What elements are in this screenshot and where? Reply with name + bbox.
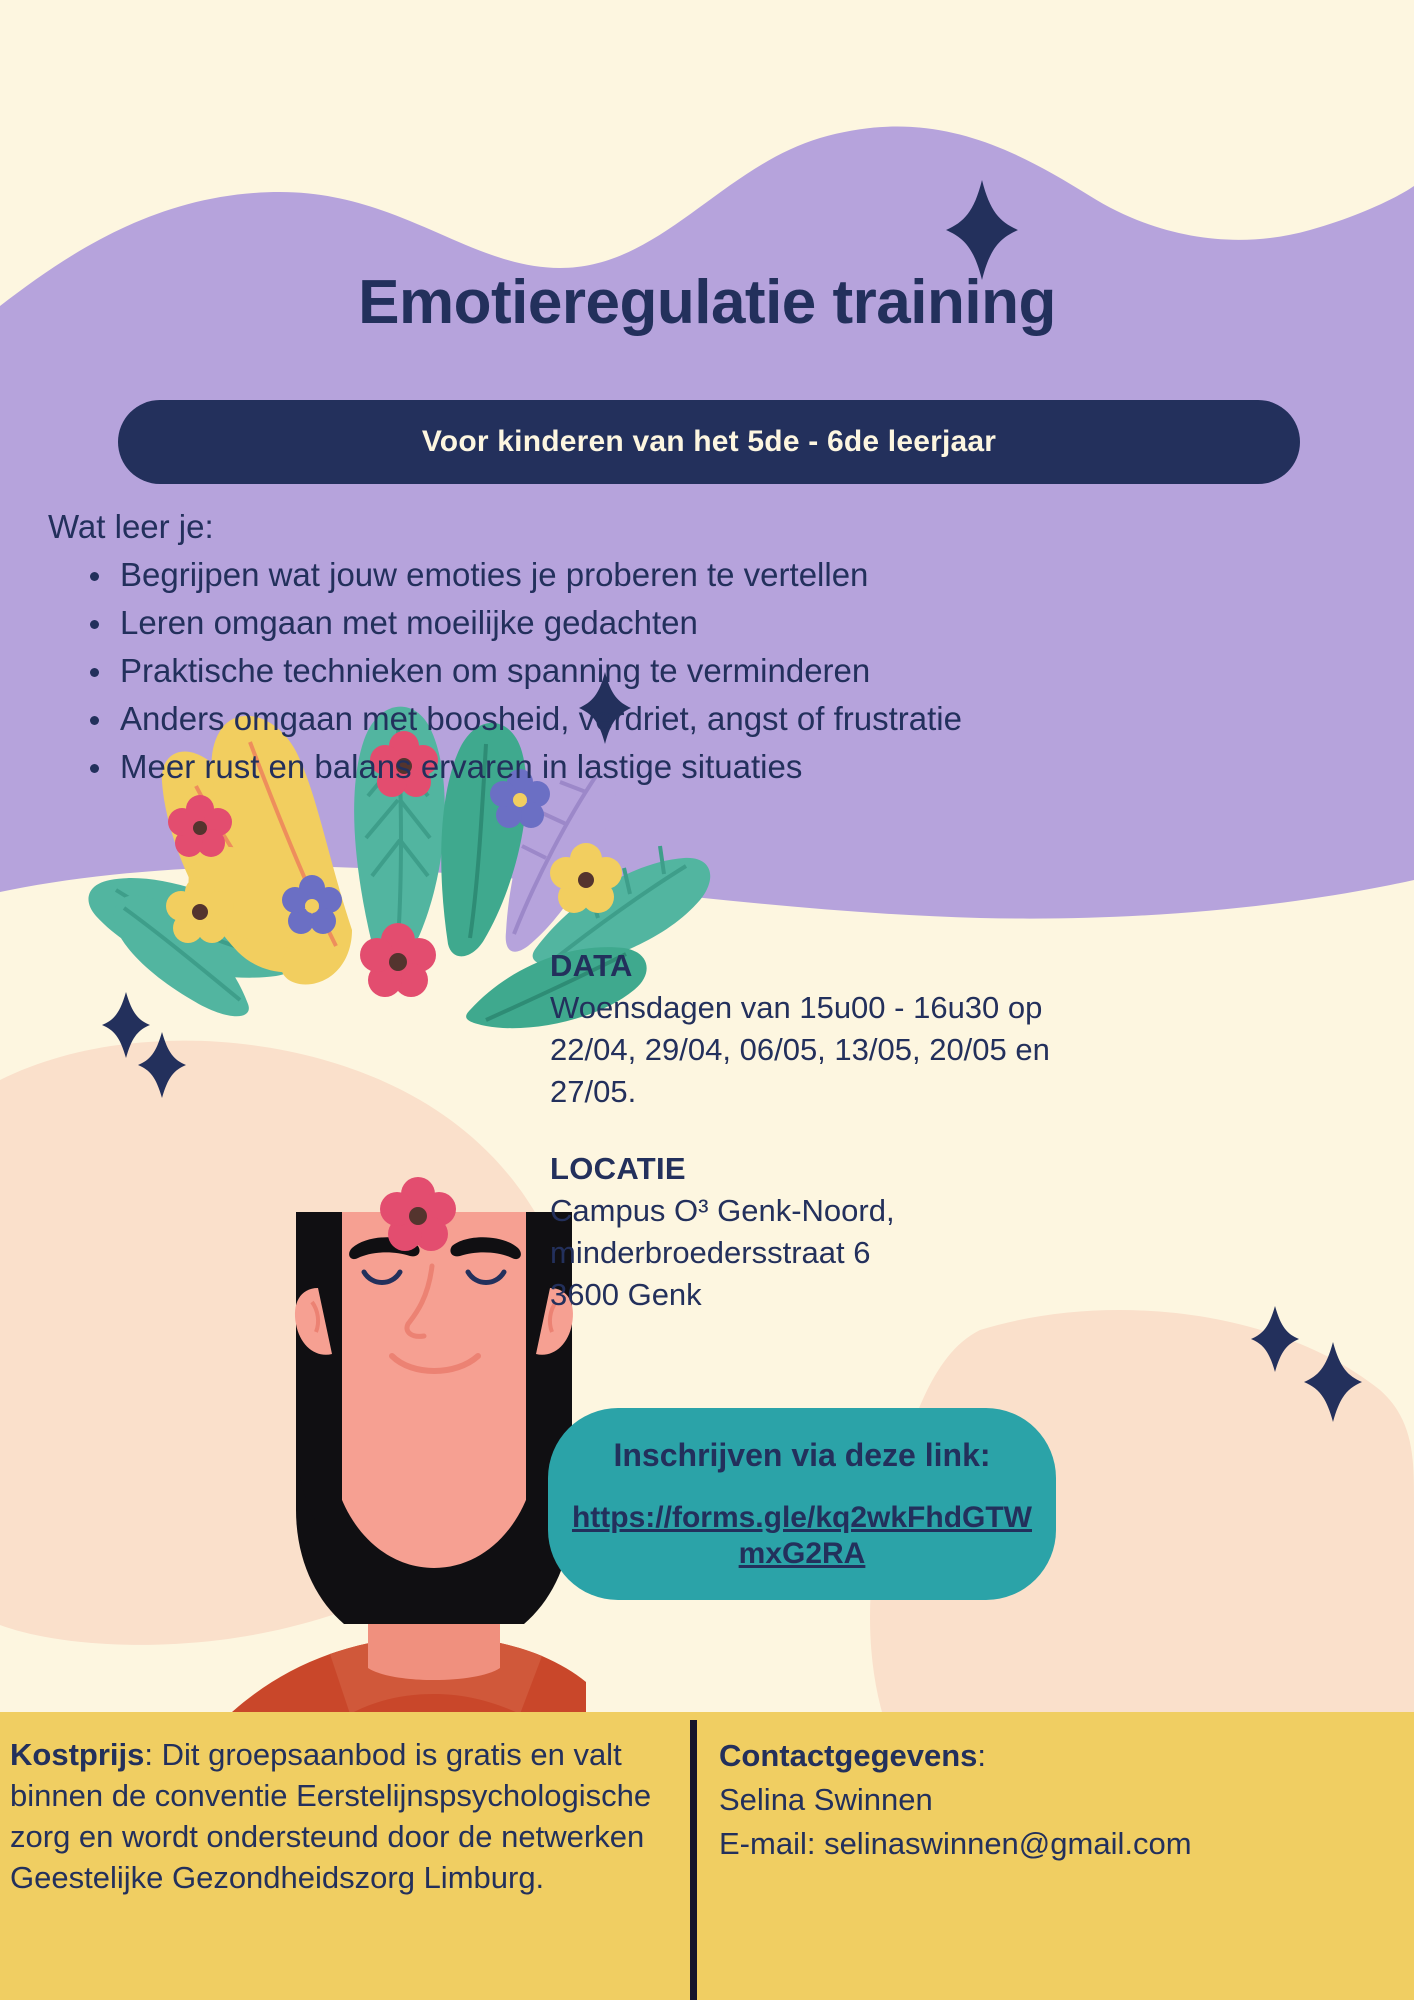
learn-label: Wat leer je: (48, 508, 214, 546)
audience-label: Voor kinderen van het 5de - 6de leerjaar (422, 425, 996, 459)
sparkle-icon (102, 992, 150, 1058)
contact-block: Contactgegevens: Selina Swinnen E-mail: … (697, 1712, 1414, 2000)
contact-name: Selina Swinnen (719, 1778, 1404, 1822)
signup-link-box[interactable]: Inschrijven via deze link: https://forms… (548, 1408, 1056, 1600)
list-item: Anders omgaan met boosheid, verdriet, an… (72, 696, 1232, 742)
flower-pink-upper (360, 923, 436, 997)
list-item: Praktische technieken om spanning te ver… (72, 648, 1232, 694)
signup-url-link[interactable]: https://forms.gle/kq2wkFhdGTWmxG2RA (562, 1500, 1042, 1572)
cost-block: Kostprijs: Dit groepsaanbod is gratis en… (0, 1712, 690, 2000)
audience-pill: Voor kinderen van het 5de - 6de leerjaar (118, 400, 1300, 484)
contact-colon: : (977, 1738, 986, 1773)
sparkle-icon (1251, 1306, 1299, 1372)
contact-email: E-mail: selinaswinnen@gmail.com (719, 1822, 1404, 1866)
list-item: Leren omgaan met moeilijke gedachten (72, 600, 1232, 646)
contact-heading: Contactgegevens: (719, 1734, 1404, 1778)
data-heading: DATA (550, 948, 1110, 984)
sparkle-icon (138, 1032, 186, 1098)
cost-label: Kostprijs (10, 1737, 144, 1772)
poster-canvas: Emotieregulatie training Voor kinderen v… (0, 0, 1414, 2000)
learn-list: Begrijpen wat jouw emoties je proberen t… (72, 552, 1232, 792)
locatie-heading: LOCATIE (550, 1151, 1110, 1187)
page-title: Emotieregulatie training (0, 272, 1414, 334)
flower-forehead (380, 1177, 456, 1251)
data-body: Woensdagen van 15u00 - 16u30 op 22/04, 2… (550, 987, 1130, 1113)
sparkle-icon (1304, 1342, 1362, 1422)
locatie-body: Campus O³ Genk-Noord, minderbroedersstra… (550, 1190, 1130, 1316)
signup-title: Inschrijven via deze link: (562, 1437, 1042, 1474)
cost-text: Kostprijs: Dit groepsaanbod is gratis en… (10, 1734, 662, 1898)
list-item: Meer rust en balans ervaren in lastige s… (72, 744, 1232, 790)
footer-band: Kostprijs: Dit groepsaanbod is gratis en… (0, 1712, 1414, 2000)
header-section: Emotieregulatie training Voor kinderen v… (0, 0, 1414, 900)
footer-divider (690, 1720, 697, 2000)
info-column: DATA Woensdagen van 15u00 - 16u30 op 22/… (550, 948, 1110, 1316)
contact-label: Contactgegevens (719, 1738, 977, 1773)
list-item: Begrijpen wat jouw emoties je proberen t… (72, 552, 1232, 598)
info-spacer (550, 1113, 1110, 1151)
